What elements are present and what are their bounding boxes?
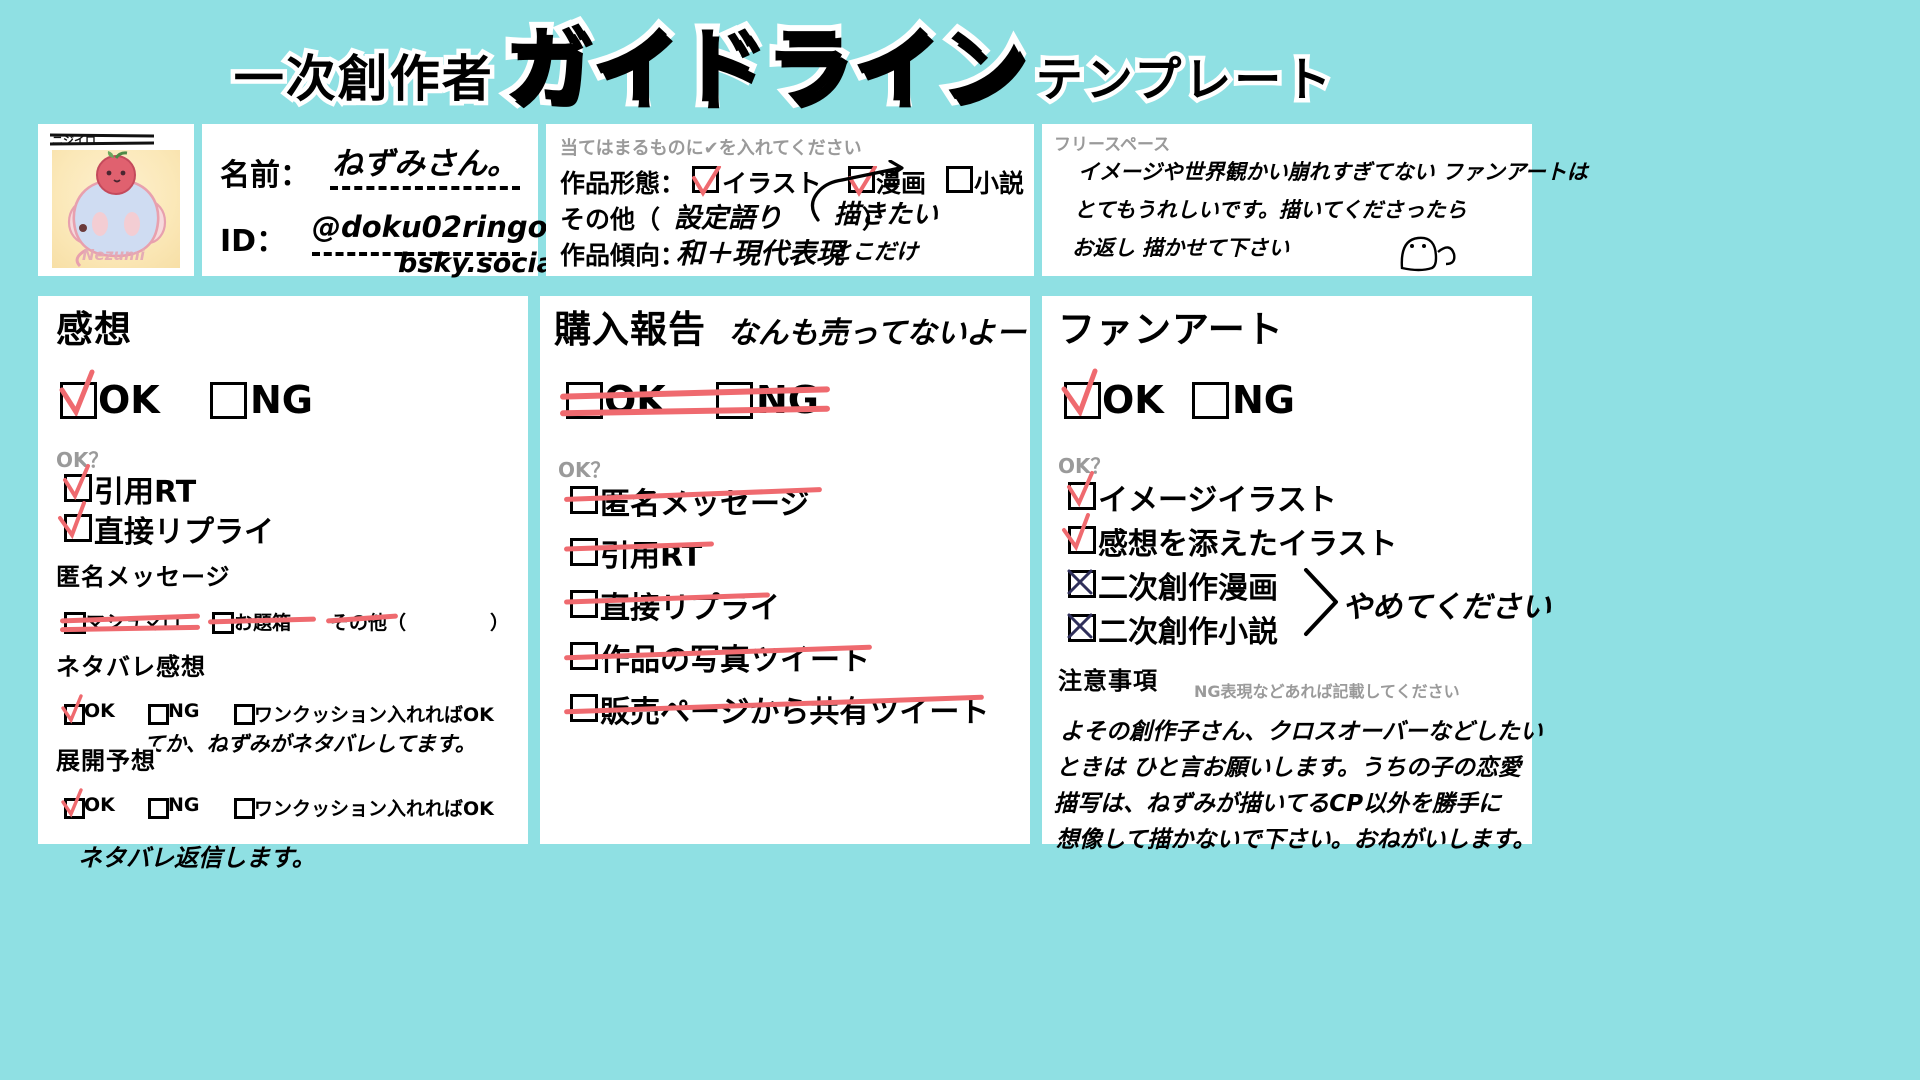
avatar-card: ニジイロ Nezumi	[38, 124, 194, 276]
kansou-ng-label: NG	[250, 378, 313, 422]
free-space-card: フリースペース イメージや世界観かい崩れすぎてない ファンアートは とてもうれし…	[1042, 124, 1532, 276]
kansou-forecast-checkbox-ng[interactable]	[148, 798, 169, 819]
kansou-ok-label: OK	[98, 378, 160, 422]
kansou-checkbox-quote-rt[interactable]	[64, 474, 92, 502]
title-main: ガイドライン	[504, 24, 1026, 118]
kansou-forecast-checkbox-cushion[interactable]	[234, 798, 255, 819]
title-suffix: テンプレート	[1036, 57, 1335, 118]
kounyu-anon-message-label: 匿名メッセージ	[600, 479, 809, 523]
kounyu-card: 購入報告 なんも売ってないよー OK NG OK？ 匿名メッセージ 引用RT 直…	[540, 296, 1030, 844]
work-other-value[interactable]: 設定語り	[674, 196, 782, 235]
fanart-ok-label: OK	[1102, 378, 1164, 422]
name-underline	[330, 186, 520, 190]
kansou-checkbox-ng[interactable]	[210, 382, 247, 419]
work-tendency-value[interactable]: 和＋現代表現	[676, 232, 844, 272]
kansou-card: 感想 OK NG OK？ 引用RT 直接リプライ 匿名メッセージ マシュマロ お…	[38, 296, 528, 844]
kansou-spoiler-checkbox-ng[interactable]	[148, 704, 169, 725]
fanart-checkbox-derivative-manga[interactable]	[1068, 570, 1096, 598]
fanart-checkbox-image-illustration[interactable]	[1068, 482, 1096, 510]
kansou-forecast-heading: 展開予想	[56, 748, 156, 774]
fanart-notice-hint: NG表現などあれば記載してください	[1194, 678, 1460, 702]
kansou-spoiler-ok-label: OK	[84, 700, 115, 722]
fanart-derivative-manga-label: 二次創作漫画	[1098, 563, 1278, 607]
name-id-card: 名前： ねずみさん。 ID： @doku02ringo. bsky.social	[202, 124, 538, 276]
fanart-brace-note[interactable]: やめてください	[1342, 582, 1551, 626]
fanart-notice-line-4[interactable]: 想像して描かないで下さい。おねがいします。	[1056, 820, 1535, 854]
work-type-novel-label: 小説	[974, 164, 1024, 200]
brace-icon	[1300, 568, 1346, 638]
kounyu-direct-reply-label: 直接リプライ	[600, 583, 780, 627]
kansou-anon-close: ）	[490, 608, 509, 635]
fanart-notice-line-2[interactable]: ときは ひと言お願いします。うちの子の恋愛	[1056, 748, 1521, 782]
fanart-checkbox-derivative-novel[interactable]	[1068, 614, 1096, 642]
kounyu-ng-label: NG	[756, 378, 819, 422]
work-tendency-label: 作品傾向：	[560, 236, 685, 272]
fanart-notice-line-1[interactable]: よその創作子さん、クロスオーバーなどしたい	[1060, 712, 1543, 746]
ghost-doodle-icon	[1394, 228, 1458, 274]
kounyu-heading-note[interactable]: なんも売ってないよー	[728, 308, 1026, 352]
mouse-with-apple-icon: Nezumi	[52, 150, 180, 268]
name-label: 名前：	[220, 150, 310, 194]
kansou-spoiler-checkbox-ok[interactable]	[64, 704, 85, 725]
kounyu-quote-rt-label: 引用RT	[600, 531, 702, 575]
free-space-line-3[interactable]: お返し 描かせて下さい	[1072, 232, 1289, 262]
work-other-label: その他（	[560, 200, 660, 236]
name-value[interactable]: ねずみさん。	[332, 138, 518, 183]
kansou-anon-heading: 匿名メッセージ	[56, 564, 231, 590]
kansou-spoiler-note[interactable]: てか、ねずみがネタバレしてます。	[144, 728, 476, 758]
kansou-checkbox-ok[interactable]	[60, 382, 97, 419]
kansou-forecast-cushion-label: ワンクッション入れればOK	[254, 794, 494, 821]
fanart-checkbox-illustration-with-impression[interactable]	[1068, 526, 1096, 554]
kansou-checkbox-direct-reply[interactable]	[64, 514, 92, 542]
form-instruction: 当てはまるものに✔を入れてください	[560, 134, 862, 160]
fanart-checkbox-ng[interactable]	[1192, 382, 1229, 419]
fanart-notice-line-3[interactable]: 描写は、ねずみが描いてるCP以外を勝手に	[1054, 784, 1501, 818]
kansou-quote-rt-label: 引用RT	[94, 467, 196, 511]
fanart-heading: ファンアート	[1058, 310, 1284, 351]
title-prefix: 一次創作者	[234, 54, 494, 118]
kansou-spoiler-cushion-label: ワンクッション入れればOK	[254, 700, 494, 727]
free-space-heading: フリースペース	[1054, 130, 1170, 155]
free-space-line-2[interactable]: とてもうれしいです。描いてくださったら	[1074, 194, 1467, 224]
fanart-card: ファンアート OK NG OK？ イメージイラスト 感想を添えたイラスト 二次創…	[1042, 296, 1532, 844]
id-value[interactable]: @doku02ringo.	[312, 210, 559, 244]
kansou-spoiler-heading: ネタバレ感想	[56, 654, 206, 680]
fanart-derivative-novel-label: 二次創作小説	[1098, 607, 1278, 651]
kansou-forecast-note[interactable]: ネタバレ返信します。	[78, 838, 316, 873]
fanart-illustration-with-impression-label: 感想を添えたイラスト	[1098, 519, 1397, 563]
kansou-forecast-ng-label: NG	[168, 794, 200, 816]
kounyu-checkbox-quote-rt[interactable]	[570, 538, 598, 566]
id-value-domain[interactable]: bsky.social	[398, 248, 564, 279]
work-form-card: 当てはまるものに✔を入れてください 作品形態： イラスト 漫画 小説 その他（ …	[546, 124, 1034, 276]
fanart-ng-label: NG	[1232, 378, 1295, 422]
avatar-watermark: Nezumi	[82, 246, 146, 264]
arrow-note-primary: 描きたい	[834, 194, 938, 231]
free-space-line-1[interactable]: イメージや世界観かい崩れすぎてない ファンアートは	[1078, 156, 1588, 186]
kansou-spoiler-ng-label: NG	[168, 700, 200, 722]
kansou-heading: 感想	[56, 310, 132, 351]
id-label: ID：	[220, 216, 286, 260]
fanart-image-illustration-label: イメージイラスト	[1098, 475, 1337, 519]
fanart-checkbox-ok[interactable]	[1064, 382, 1101, 419]
fanart-notice-heading: 注意事項	[1058, 668, 1158, 694]
kansou-forecast-ok-label: OK	[84, 794, 115, 816]
kounyu-heading: 購入報告	[554, 310, 706, 351]
kansou-direct-reply-label: 直接リプライ	[94, 507, 274, 551]
avatar-label-strikethrough: ニジイロ	[50, 132, 154, 148]
checkbox-illustration[interactable]	[692, 166, 719, 193]
work-type-label: 作品形態：	[560, 164, 685, 200]
page-title: 一次創作者 ガイドライン テンプレート	[0, 0, 1568, 118]
kansou-spoiler-checkbox-cushion[interactable]	[234, 704, 255, 725]
kansou-forecast-checkbox-ok[interactable]	[64, 798, 85, 819]
